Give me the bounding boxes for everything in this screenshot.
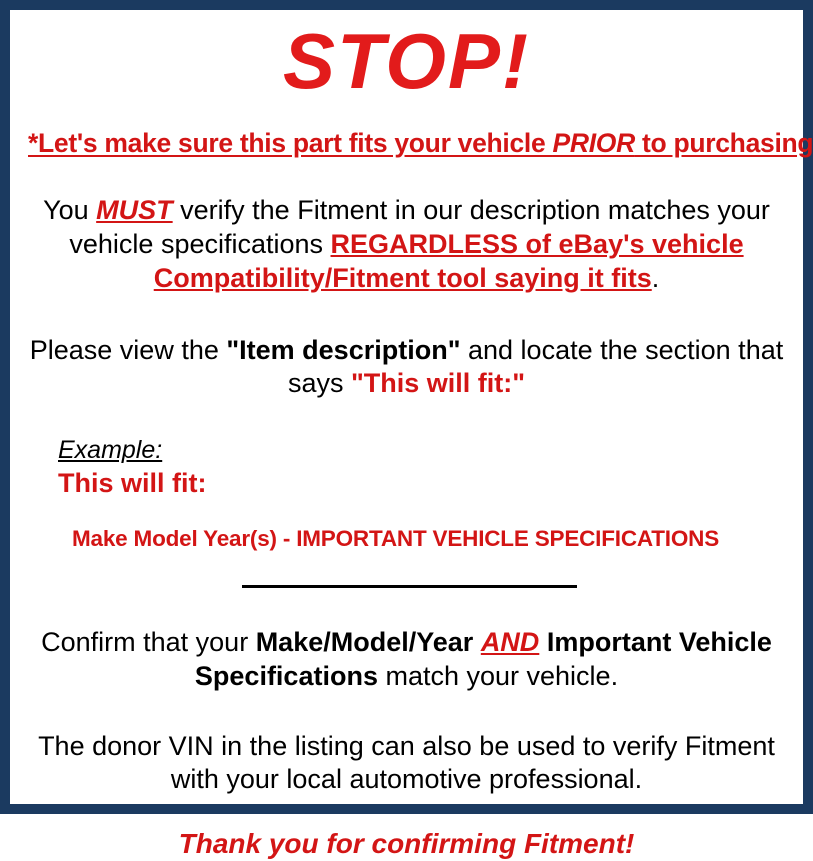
subtitle-emphasis-prior: PRIOR — [552, 128, 634, 158]
view-description-paragraph: Please view the "Item description" and l… — [28, 334, 785, 402]
subtitle-suffix: to purchasing* — [635, 128, 813, 158]
make-model-year-label: Make/Model/Year — [256, 627, 474, 657]
example-spec-line: Make Model Year(s) - IMPORTANT VEHICLE S… — [72, 525, 785, 552]
divider-wrapper — [28, 578, 785, 592]
thank-you-message: Thank you for confirming Fitment! — [28, 827, 785, 861]
subtitle-banner: *Let's make sure this part fits your veh… — [28, 128, 785, 158]
must-para-part1: You — [43, 195, 96, 225]
horizontal-divider — [242, 585, 577, 588]
and-keyword: AND — [481, 627, 540, 657]
confirm-para-part1: Confirm that your — [41, 627, 256, 657]
example-this-will-fit: This will fit: — [58, 467, 785, 499]
example-label: Example: — [58, 437, 785, 465]
example-block: Example: This will fit: Make Model Year(… — [28, 437, 785, 552]
notice-content-area: STOP! *Let's make sure this part fits yo… — [10, 10, 803, 804]
this-will-fit-quote: "This will fit:" — [351, 368, 525, 398]
fitment-notice-card: STOP! *Let's make sure this part fits yo… — [0, 0, 813, 814]
must-para-part3: . — [652, 263, 660, 293]
page-title: STOP! — [28, 22, 785, 100]
subtitle-prefix: *Let's make sure this part fits your veh… — [28, 128, 552, 158]
view-para-part1: Please view the — [30, 335, 227, 365]
must-verify-paragraph: You MUST verify the Fitment in our descr… — [28, 194, 785, 295]
vin-paragraph: The donor VIN in the listing can also be… — [28, 730, 785, 798]
must-keyword: MUST — [96, 195, 173, 225]
confirm-paragraph: Confirm that your Make/Model/Year AND Im… — [28, 626, 785, 694]
confirm-para-part2: match your vehicle. — [378, 661, 618, 691]
item-description-label: "Item description" — [226, 335, 460, 365]
